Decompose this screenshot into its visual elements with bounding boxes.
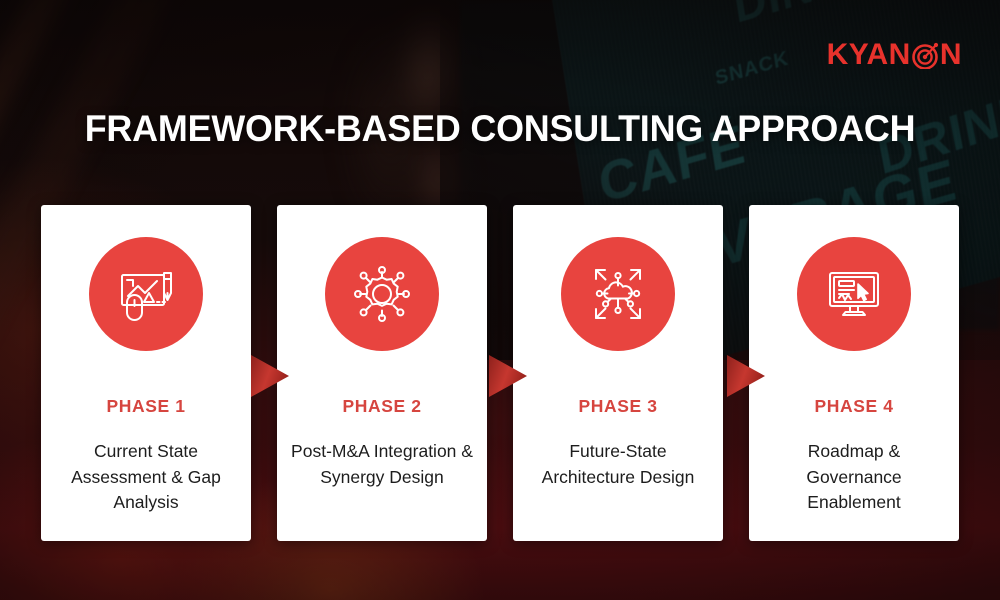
phase-description: Current State Assessment & Gap Analysis [41, 439, 251, 516]
infographic-canvas: DINNER BARBEQUE CAFÉ SNACK BEVERAGE DRIN… [0, 0, 1000, 600]
arrow-phase-3-to-4 [727, 355, 765, 397]
page-title: FRAMEWORK-BASED CONSULTING APPROACH [15, 108, 985, 150]
phase-card-2[interactable]: PHASE 2 Post-M&A Integration & Synergy D… [277, 205, 487, 541]
arrow-phase-2-to-3 [489, 355, 527, 397]
logo-wordmark: KYAN N [827, 40, 962, 70]
phase-card-1[interactable]: PHASE 1 Current State Assessment & Gap A… [41, 205, 251, 541]
phase-label: PHASE 1 [106, 396, 185, 417]
phase-card-3[interactable]: PHASE 3 Future-State Architecture Design [513, 205, 723, 541]
phase-description: Future-State Architecture Design [513, 439, 723, 490]
phase-label: PHASE 2 [342, 396, 421, 417]
cloud-network-expand-icon [561, 237, 675, 351]
brand-logo: KYAN N [827, 40, 962, 70]
phase-description: Roadmap & Governance Enablement [749, 439, 959, 516]
monitor-cursor-icon [797, 237, 911, 351]
phase-card-4[interactable]: PHASE 4 Roadmap & Governance Enablement [749, 205, 959, 541]
chart-board-pencil-icon [89, 237, 203, 351]
arrow-phase-1-to-2 [251, 355, 289, 397]
logo-text-after: N [940, 40, 962, 70]
bullseye-target-icon [912, 42, 939, 69]
logo-text-before: KYAN [827, 40, 911, 70]
phase-description: Post-M&A Integration & Synergy Design [277, 439, 487, 490]
phase-label: PHASE 3 [578, 396, 657, 417]
phase-label: PHASE 4 [814, 396, 893, 417]
gear-network-hub-icon [325, 237, 439, 351]
